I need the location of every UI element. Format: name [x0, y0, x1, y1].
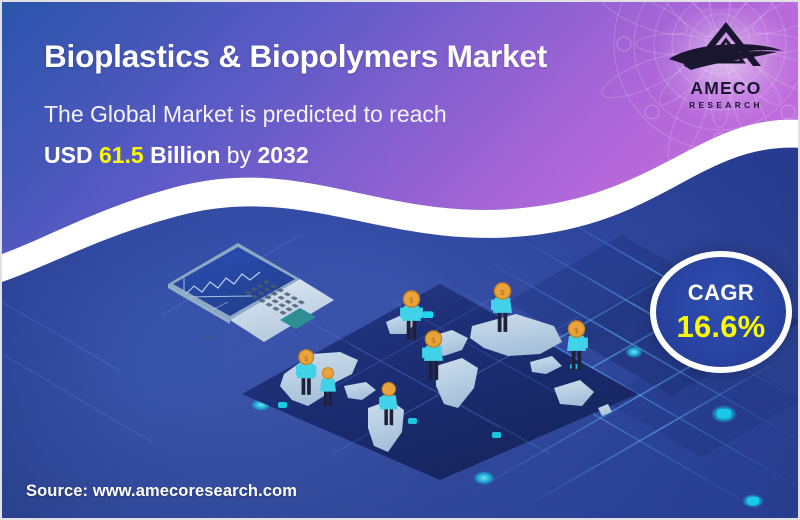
svg-text:$: $	[574, 326, 579, 335]
logo-name: AMECO	[665, 80, 787, 98]
subtitle-line-2: USD 61.5 Billion by 2032	[44, 142, 309, 169]
unit-label: Billion	[150, 142, 220, 168]
cagr-value: 16.6%	[677, 311, 766, 342]
market-value: 61.5	[99, 142, 144, 168]
subtitle-line-1: The Global Market is predicted to reach	[44, 101, 447, 128]
connector-label: by	[227, 142, 251, 168]
ameco-triangle-icon	[665, 18, 787, 74]
brand-logo[interactable]: AMECO RESEARCH	[665, 18, 787, 114]
logo-tagline: RESEARCH	[665, 101, 787, 109]
currency-label: USD	[44, 142, 93, 168]
svg-text:$: $	[431, 336, 436, 345]
infographic-canvas: $	[0, 0, 800, 520]
source-label: Source: www.amecoresearch.com	[26, 482, 297, 501]
page-title: Bioplastics & Biopolymers Market	[44, 38, 547, 75]
cagr-label: CAGR	[688, 282, 754, 304]
cagr-badge: CAGR 16.6%	[650, 251, 792, 373]
forecast-year: 2032	[257, 142, 308, 168]
